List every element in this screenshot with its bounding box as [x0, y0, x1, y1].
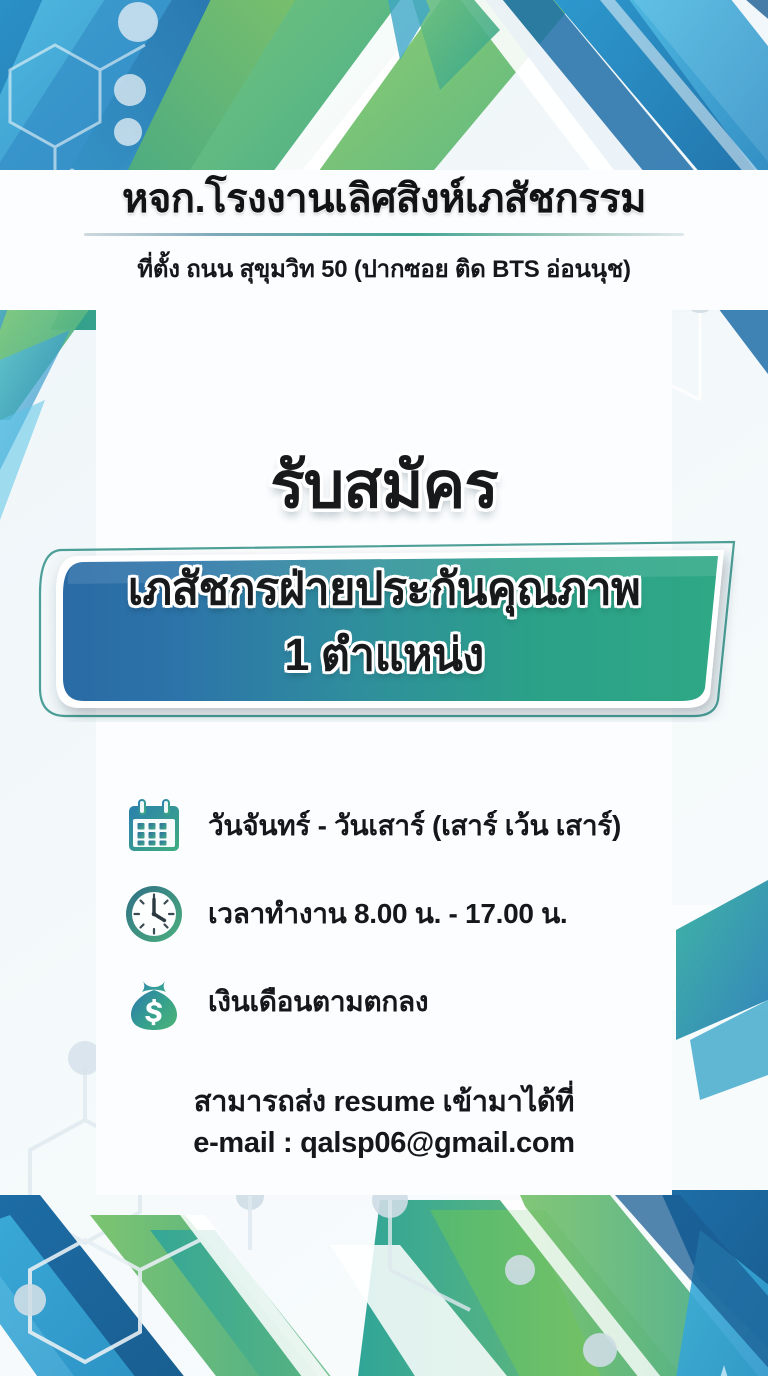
position-banner-text: เภสัชกรฝ่ายประกันคุณภาพ 1 ตำแหน่ง: [18, 564, 750, 690]
info-row-hours: เวลาทำงาน 8.00 น. - 17.00 น.: [122, 870, 722, 958]
header-divider: [84, 233, 684, 236]
position-banner: เภสัชกรฝ่ายประกันคุณภาพ 1 ตำแหน่ง: [18, 536, 750, 722]
info-text-hours: เวลาทำงาน 8.00 น. - 17.00 น.: [208, 892, 567, 936]
info-row-workdays: วันจันทร์ - วันเสาร์ (เสาร์ เว้น เสาร์): [122, 782, 722, 870]
contact-instruction: สามารถส่ง resume เข้ามาได้ที่: [0, 1082, 768, 1123]
hero-section: รับสมัคร: [0, 452, 768, 519]
contact-email[interactable]: e-mail : qalsp06@gmail.com: [0, 1123, 768, 1164]
calendar-icon: [122, 794, 186, 858]
contact-section: สามารถส่ง resume เข้ามาได้ที่ e-mail : q…: [0, 1082, 768, 1164]
info-text-workdays: วันจันทร์ - วันเสาร์ (เสาร์ เว้น เสาร์): [208, 804, 621, 848]
poster-header: หจก.โรงงานเลิศสิงห์เภสัชกรรม ที่ตั้ง ถนน…: [0, 176, 768, 288]
hero-title: รับสมัคร: [0, 452, 768, 519]
info-row-salary: เงินเดือนตามตกลง: [122, 958, 722, 1046]
company-name: หจก.โรงงานเลิศสิงห์เภสัชกรรม: [0, 176, 768, 222]
info-list: วันจันทร์ - วันเสาร์ (เสาร์ เว้น เสาร์): [122, 782, 722, 1046]
poster-root: หจก.โรงงานเลิศสิงห์เภสัชกรรม ที่ตั้ง ถนน…: [0, 0, 768, 1376]
content-panel: [96, 300, 672, 1195]
position-title-line1: เภสัชกรฝ่ายประกันคุณภาพ: [18, 564, 750, 614]
clock-icon: [122, 882, 186, 946]
money-bag-icon: [122, 970, 186, 1034]
info-text-salary: เงินเดือนตามตกลง: [208, 980, 428, 1024]
company-address: ที่ตั้ง ถนน สุขุมวิท 50 (ปากซอย ติด BTS …: [0, 249, 768, 288]
position-title-line2: 1 ตำแหน่ง: [18, 618, 750, 690]
